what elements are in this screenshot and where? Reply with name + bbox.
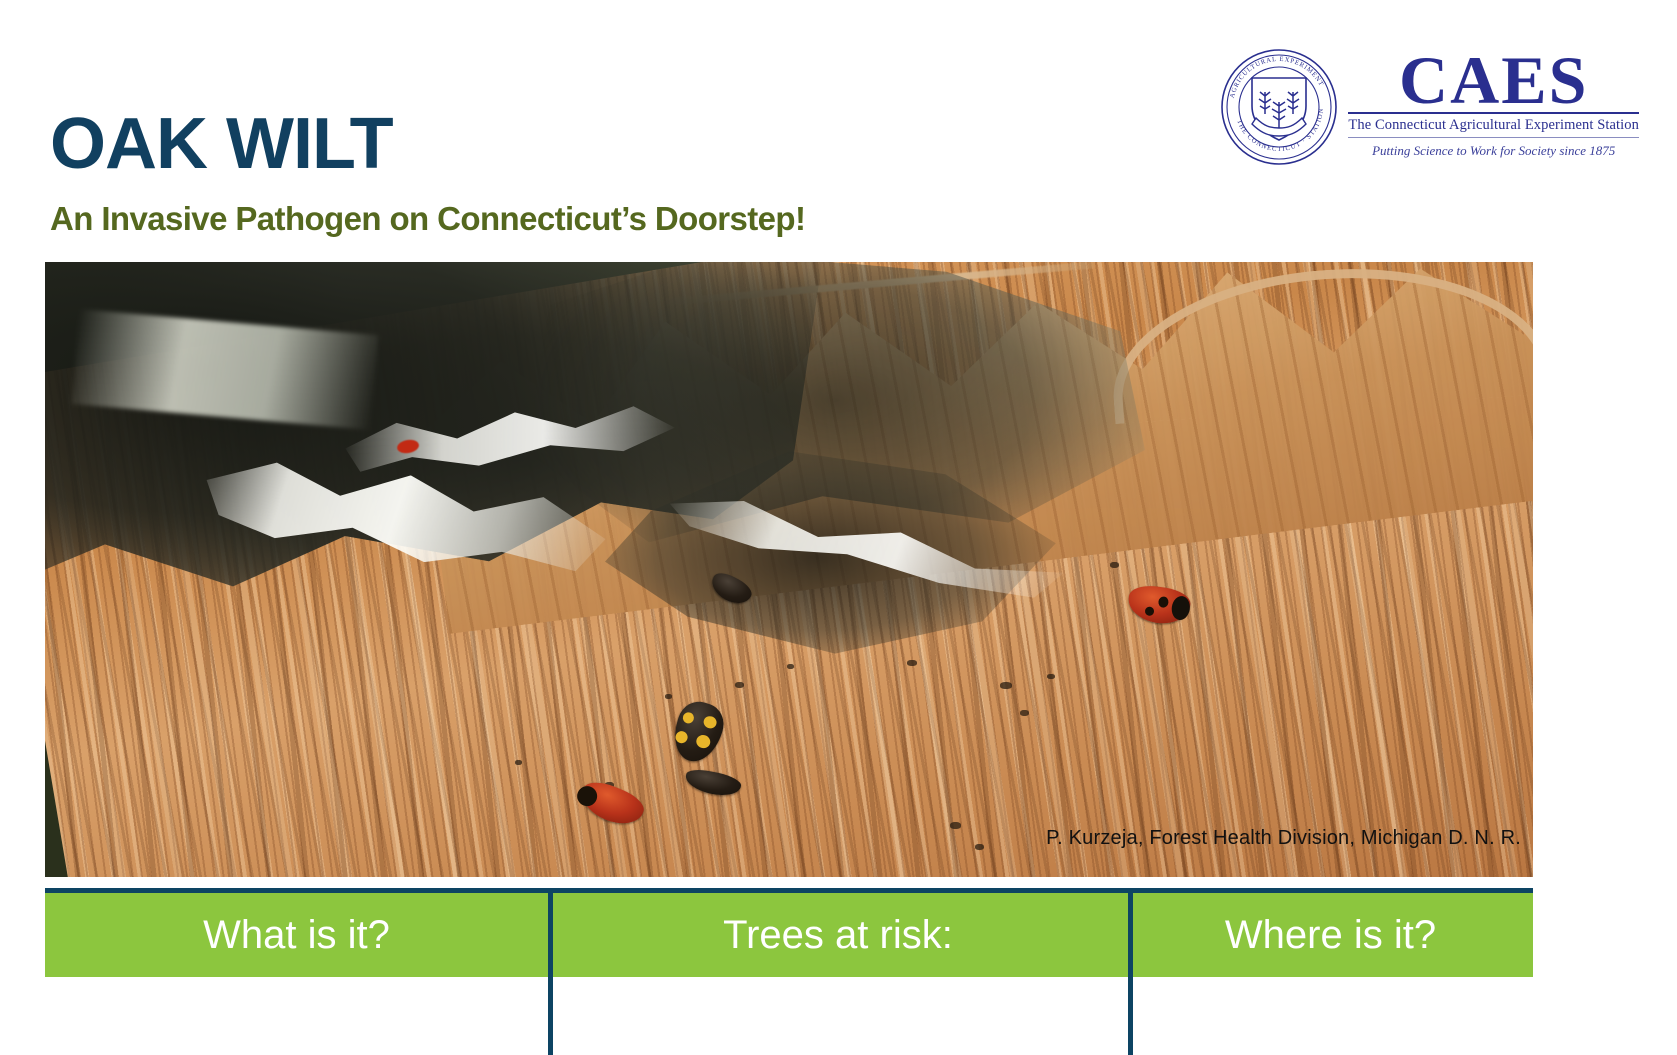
frass-speck	[1110, 562, 1119, 568]
caes-full-name: The Connecticut Agricultural Experiment …	[1348, 117, 1639, 134]
frass-speck	[907, 660, 917, 666]
nav-item-label: Where is it?	[1225, 915, 1436, 955]
nav-item-what-is-it[interactable]: What is it?	[45, 893, 548, 977]
nav-divider-1	[548, 888, 553, 1055]
photo-scene: P. Kurzeja, Forest Health Division, Mich…	[45, 262, 1533, 877]
hero-photo: P. Kurzeja, Forest Health Division, Mich…	[45, 262, 1533, 877]
photo-credit: P. Kurzeja, Forest Health Division, Mich…	[1046, 827, 1521, 850]
nav-item-trees-at-risk[interactable]: Trees at risk:	[548, 893, 1128, 977]
caes-wordmark: CAES The Connecticut Agricultural Experi…	[1348, 48, 1639, 159]
caes-rule-2	[1348, 137, 1639, 138]
section-nav: What is it? Trees at risk: Where is it?	[45, 893, 1533, 977]
nav-item-label: Trees at risk:	[723, 915, 953, 955]
frass-speck	[975, 844, 984, 850]
frass-speck	[515, 760, 522, 765]
caes-logo[interactable]: AGRICULTURAL EXPERIMENT THE CONNECTICUT …	[1220, 48, 1639, 166]
nav-divider-2	[1128, 888, 1133, 1055]
page-header: OAK WILT An Invasive Pathogen on Connect…	[0, 0, 1677, 262]
page-title: OAK WILT	[50, 108, 805, 180]
title-block: OAK WILT An Invasive Pathogen on Connect…	[50, 108, 805, 235]
caes-tagline: Putting Science to Work for Society sinc…	[1372, 143, 1615, 159]
frass-speck	[1020, 710, 1029, 716]
page-subtitle: An Invasive Pathogen on Connecticut’s Do…	[50, 202, 805, 235]
frass-speck	[735, 682, 744, 688]
frass-speck	[665, 694, 672, 699]
frass-speck	[787, 664, 794, 669]
caes-acronym: CAES	[1399, 52, 1588, 110]
caes-seal-icon: AGRICULTURAL EXPERIMENT THE CONNECTICUT …	[1220, 48, 1338, 166]
frass-speck	[1000, 682, 1012, 689]
nav-item-label: What is it?	[203, 915, 390, 955]
caes-rule	[1348, 112, 1639, 114]
nav-item-where-is-it[interactable]: Where is it?	[1128, 893, 1533, 977]
frass-speck	[950, 822, 961, 829]
frass-speck	[1047, 674, 1055, 679]
